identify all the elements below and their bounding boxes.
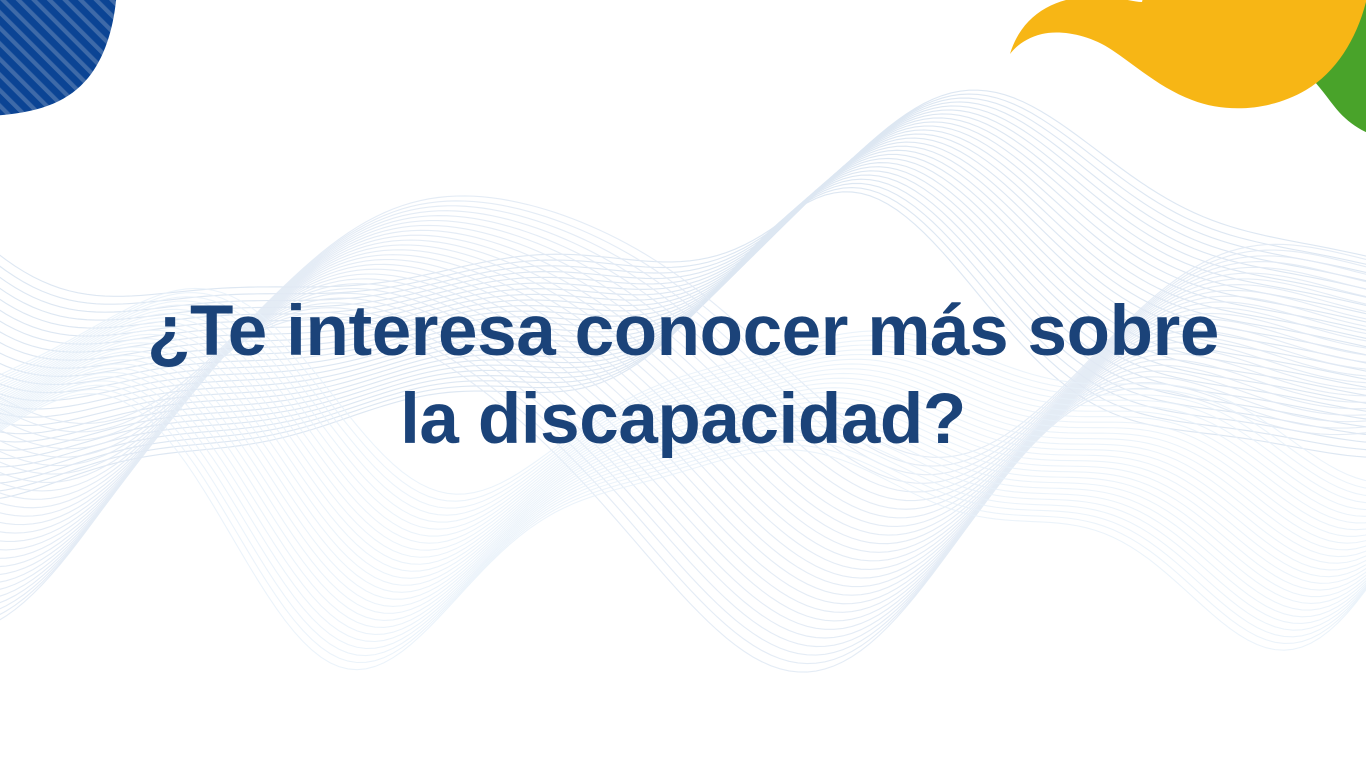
headline-line-1: ¿Te interesa conocer más sobre [0,288,1366,376]
green-blob-shape [1218,0,1366,141]
yellow-accent-crescent-shape [0,0,112,26]
slide-canvas: ¿Te interesa conocer más sobre la discap… [0,0,1366,768]
headline-line-2: la discapacidad? [0,376,1366,464]
headline: ¿Te interesa conocer más sobre la discap… [0,288,1366,464]
wave-line [0,98,1366,312]
wave-line [0,90,1366,296]
wave-line [0,94,1366,304]
yellow-blob-shape [1010,0,1366,108]
blue-striped-blob-shape [0,0,118,117]
